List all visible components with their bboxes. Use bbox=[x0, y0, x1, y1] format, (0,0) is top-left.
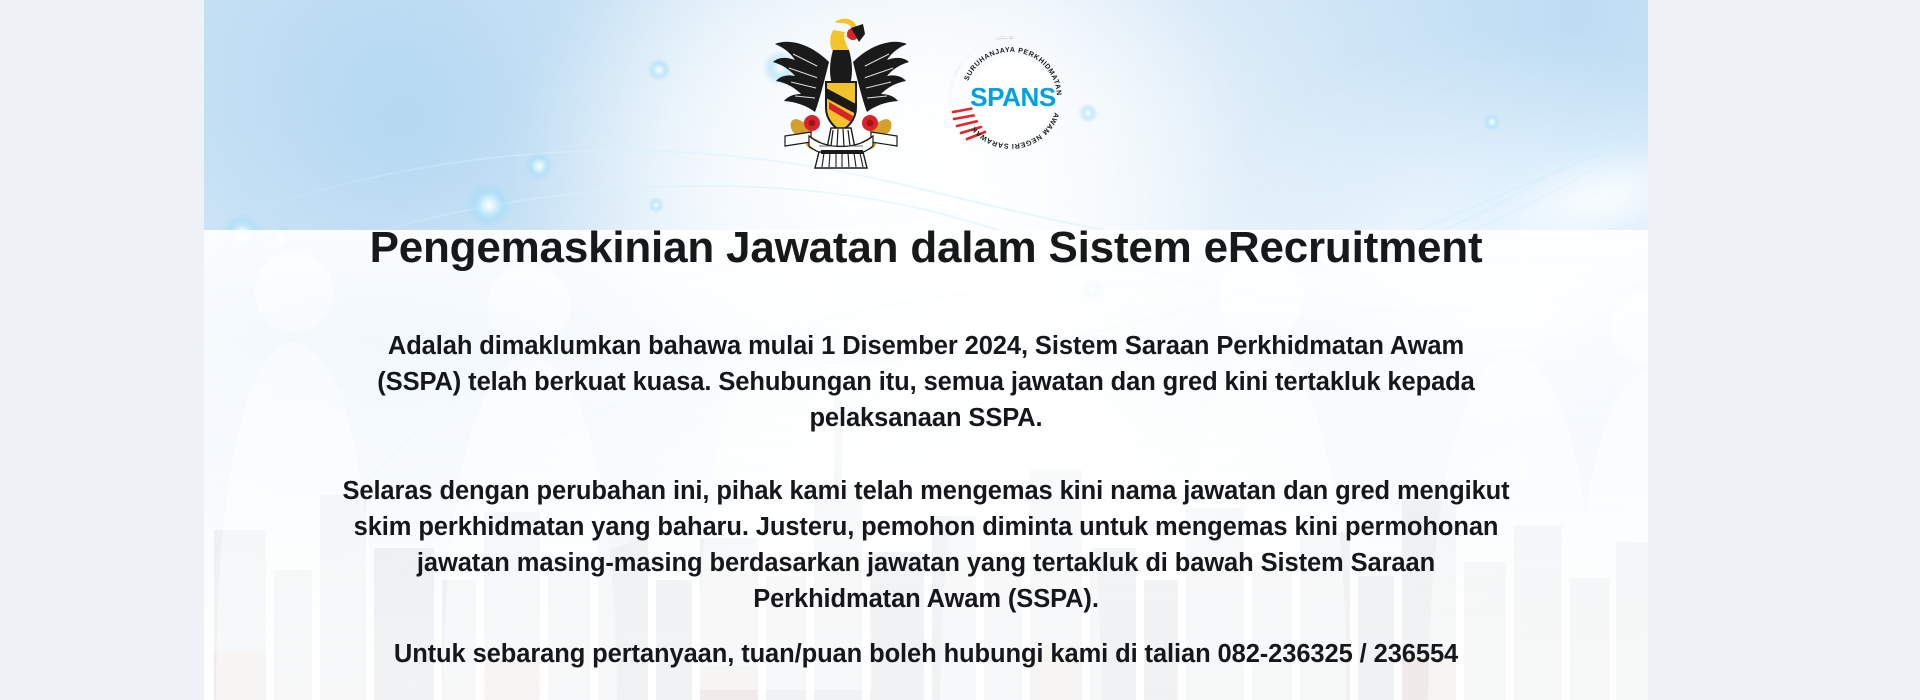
page-title: Pengemaskinian Jawatan dalam Sistem eRec… bbox=[204, 224, 1648, 272]
spans-logo-icon: SURUHANJAYA PERKHIDMATAN AWAM NEGERI SAR… bbox=[941, 28, 1081, 168]
contact-line: Untuk sebarang pertanyaan, tuan/puan bol… bbox=[204, 638, 1648, 671]
announcement-body: Adalah dimaklumkan bahawa mulai 1 Disemb… bbox=[204, 328, 1648, 617]
logo-row: SURUHANJAYA PERKHIDMATAN AWAM NEGERI SAR… bbox=[204, 10, 1648, 175]
paragraph-spacer bbox=[204, 437, 1648, 473]
sarawak-coat-of-arms-icon bbox=[771, 10, 911, 170]
announcement-paragraph-2: Selaras dengan perubahan ini, pihak kami… bbox=[341, 473, 1511, 618]
right-page-gutter bbox=[1648, 0, 1920, 700]
announcement-banner: SURUHANJAYA PERKHIDMATAN AWAM NEGERI SAR… bbox=[204, 0, 1648, 700]
banner-content: SURUHANJAYA PERKHIDMATAN AWAM NEGERI SAR… bbox=[204, 0, 1648, 700]
left-page-gutter bbox=[0, 0, 204, 700]
banner-page: SURUHANJAYA PERKHIDMATAN AWAM NEGERI SAR… bbox=[0, 0, 1920, 700]
announcement-paragraph-1: Adalah dimaklumkan bahawa mulai 1 Disemb… bbox=[356, 328, 1496, 437]
svg-text:SPANS: SPANS bbox=[970, 82, 1056, 112]
